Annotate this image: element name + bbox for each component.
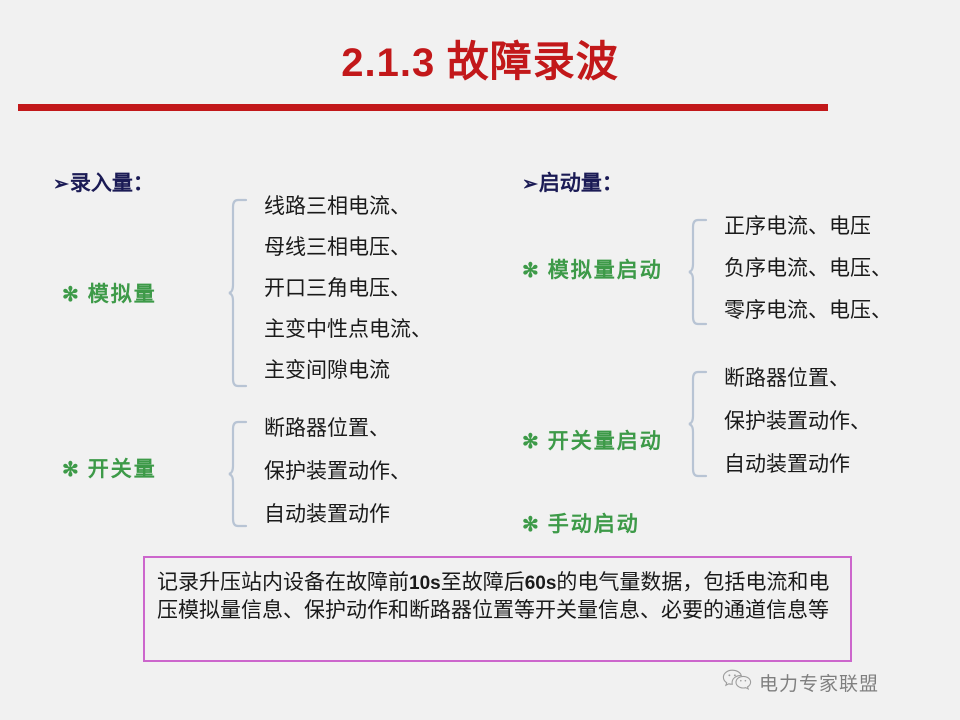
list-item: 母线三相电压、: [264, 237, 432, 258]
note-line3: 必要的通道信息等: [661, 598, 829, 622]
note-line1-part-b: 至故障后: [441, 570, 525, 594]
bracket-analog: [228, 198, 248, 388]
left-column-heading-label: 录入量：: [70, 171, 154, 195]
note-box: 记录升压站内设备在故障前10s至故障后60s的电气量数据，包括电流和电压模拟量信…: [143, 556, 852, 662]
right-column-heading: ➢启动量：: [522, 167, 623, 197]
arrow-bullet-icon: ➢: [522, 174, 538, 195]
list-item: 断路器位置、: [724, 368, 871, 389]
note-duration-before: 10s: [409, 573, 441, 594]
asterisk-icon: ✻: [522, 260, 539, 282]
title-text: 故障录波: [447, 40, 619, 86]
list-item: 断路器位置、: [264, 418, 411, 439]
asterisk-icon: ✻: [62, 459, 79, 481]
category-label-analog-start: ✻模拟量启动: [522, 254, 663, 284]
category-label-digital: ✻开关量: [62, 453, 157, 483]
category-label-analog: ✻模拟量: [62, 278, 157, 308]
category-label-manual-start: ✻手动启动: [522, 508, 640, 538]
wechat-icon: [722, 668, 752, 697]
list-item: 开口三角电压、: [264, 278, 432, 299]
right-column-heading-label: 启动量：: [539, 171, 623, 195]
list-item: 保护装置动作、: [724, 411, 871, 432]
title-number: 2.1.3: [341, 41, 435, 85]
page-title: 2.1.3 故障录波: [0, 40, 960, 86]
list-item: 线路三相电流、: [264, 196, 432, 217]
category-label-digital-text: 开关量: [88, 457, 157, 481]
category-label-digital-start-text: 开关量启动: [548, 429, 663, 453]
item-list-digital-start: 断路器位置、 保护装置动作、 自动装置动作: [724, 368, 871, 497]
watermark: 电力专家联盟: [722, 668, 879, 697]
arrow-bullet-icon: ➢: [53, 174, 69, 195]
bracket-digital-start: [688, 370, 708, 478]
category-label-analog-text: 模拟量: [88, 282, 157, 306]
list-item: 自动装置动作: [724, 454, 871, 475]
list-item: 正序电流、电压: [724, 216, 892, 237]
list-item: 保护装置动作、: [264, 461, 411, 482]
slide-canvas: 2.1.3 故障录波 ➢录入量： ✻模拟量 线路三相电流、 母线三相电压、 开口…: [0, 0, 960, 720]
category-label-manual-start-text: 手动启动: [548, 512, 640, 536]
note-text: 记录升压站内设备在故障前10s至故障后60s的电气量数据，包括电流和电压模拟量信…: [157, 569, 843, 624]
watermark-label: 电力专家联盟: [759, 669, 879, 696]
list-item: 负序电流、电压、: [724, 258, 892, 279]
note-duration-after: 60s: [525, 573, 557, 594]
list-item: 主变间隙电流: [264, 360, 432, 381]
asterisk-icon: ✻: [522, 431, 539, 453]
note-line1-part-a: 记录升压站内设备在故障前: [157, 570, 409, 594]
bracket-digital: [228, 420, 248, 528]
item-list-digital: 断路器位置、 保护装置动作、 自动装置动作: [264, 418, 411, 547]
item-list-analog: 线路三相电流、 母线三相电压、 开口三角电压、 主变中性点电流、 主变间隙电流: [264, 196, 432, 401]
list-item: 零序电流、电压、: [724, 300, 892, 321]
note-line1-part-c: 的电气量数据，包括: [556, 570, 745, 594]
left-column-heading: ➢录入量：: [53, 167, 154, 197]
asterisk-icon: ✻: [522, 514, 539, 536]
list-item: 自动装置动作: [264, 504, 411, 525]
asterisk-icon: ✻: [62, 284, 79, 306]
category-label-digital-start: ✻开关量启动: [522, 425, 663, 455]
list-item: 主变中性点电流、: [264, 319, 432, 340]
item-list-analog-start: 正序电流、电压 负序电流、电压、 零序电流、电压、: [724, 216, 892, 342]
title-underline-rule: [18, 104, 828, 111]
bracket-analog-start: [688, 218, 708, 326]
category-label-analog-start-text: 模拟量启动: [548, 258, 663, 282]
